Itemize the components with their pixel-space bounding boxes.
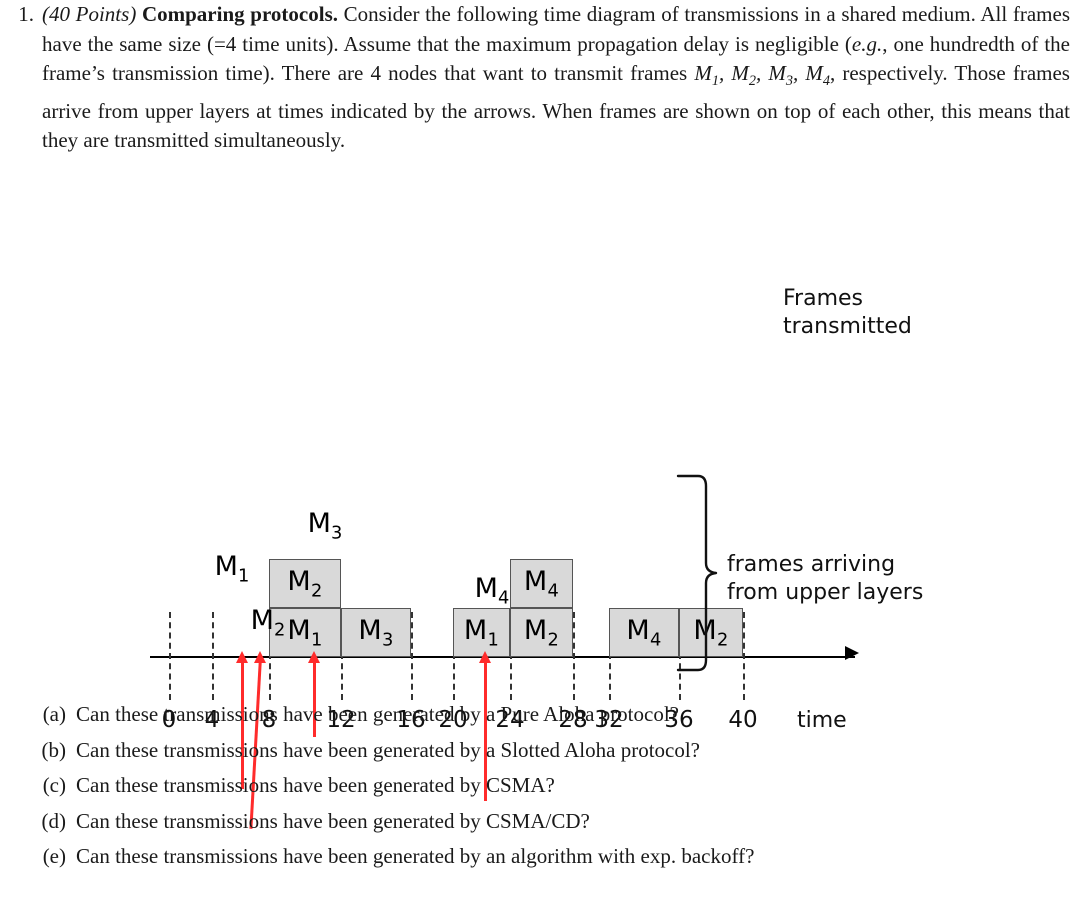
frame-box-m2-at-24: M2 <box>510 608 573 657</box>
problem-row: 1. (40 Points) Comparing protocols. Cons… <box>0 0 1087 156</box>
time-axis-arrowhead <box>845 646 859 660</box>
tick-4 <box>212 612 214 700</box>
sub-questions-list: (a) Can these transmissions have been ge… <box>0 700 1087 878</box>
question-text: Can these transmissions have been genera… <box>76 771 555 800</box>
tick-0 <box>169 612 171 700</box>
question-tag: (a) <box>0 700 76 729</box>
tick-28 <box>573 612 575 700</box>
arrival-label-m2: M2 <box>251 605 286 640</box>
question-text: Can these transmissions have been genera… <box>76 700 679 729</box>
frame-box-m2-at-8: M2 <box>269 559 341 608</box>
frame-box-m3-at-12: M3 <box>341 608 411 657</box>
question-text: Can these transmissions have been genera… <box>76 736 700 765</box>
question-tag: (c) <box>0 771 76 800</box>
question-text: Can these transmissions have been genera… <box>76 842 754 871</box>
tick-16 <box>411 612 413 700</box>
problem-statement: 1. (40 Points) Comparing protocols. Cons… <box>0 0 1087 156</box>
tick-40 <box>743 612 745 700</box>
problem-title: Comparing protocols. <box>142 2 338 26</box>
frame-label: M3 <box>358 615 393 650</box>
list-item: (a) Can these transmissions have been ge… <box>0 700 1087 729</box>
frame-label: M4 <box>524 566 559 601</box>
list-item: (d) Can these transmissions have been ge… <box>0 807 1087 836</box>
problem-eg: e.g. <box>852 32 882 56</box>
list-item: (c) Can these transmissions have been ge… <box>0 771 1087 800</box>
frame-label: M2 <box>287 566 322 601</box>
frames-transmitted-note: Frames transmitted <box>783 285 912 341</box>
problem-points: (40 Points) <box>42 2 136 26</box>
problem-number: 1. <box>0 0 42 30</box>
frame-label: M1 <box>464 615 499 650</box>
list-item: (b) Can these transmissions have been ge… <box>0 736 1087 765</box>
frame-label: M4 <box>626 615 661 650</box>
arrival-label-m4: M4 <box>475 573 510 608</box>
time-diagram: 0 4 8 12 16 20 24 28 32 36 40 M1 M2 M3 M… <box>0 255 1087 695</box>
frame-label: M1 <box>287 615 322 650</box>
arrival-label-m1: M1 <box>215 551 250 586</box>
brace-note: frames arriving from upper layers <box>727 551 923 607</box>
problem-text: (40 Points) Comparing protocols. Conside… <box>42 0 1070 156</box>
question-tag: (e) <box>0 842 76 871</box>
list-item: (e) Can these transmissions have been ge… <box>0 842 1087 871</box>
upper-layers-brace <box>672 473 732 673</box>
question-tag: (b) <box>0 736 76 765</box>
problem-frame-list: M1, M2, M3, M4 <box>694 61 830 85</box>
frame-box-m4-at-32: M4 <box>609 608 679 657</box>
frame-box-m4-at-24: M4 <box>510 559 573 608</box>
frame-box-m1-at-20: M1 <box>453 608 510 657</box>
question-text: Can these transmissions have been genera… <box>76 807 590 836</box>
arrival-label-m3: M3 <box>308 508 343 543</box>
frame-label: M2 <box>524 615 559 650</box>
question-tag: (d) <box>0 807 76 836</box>
